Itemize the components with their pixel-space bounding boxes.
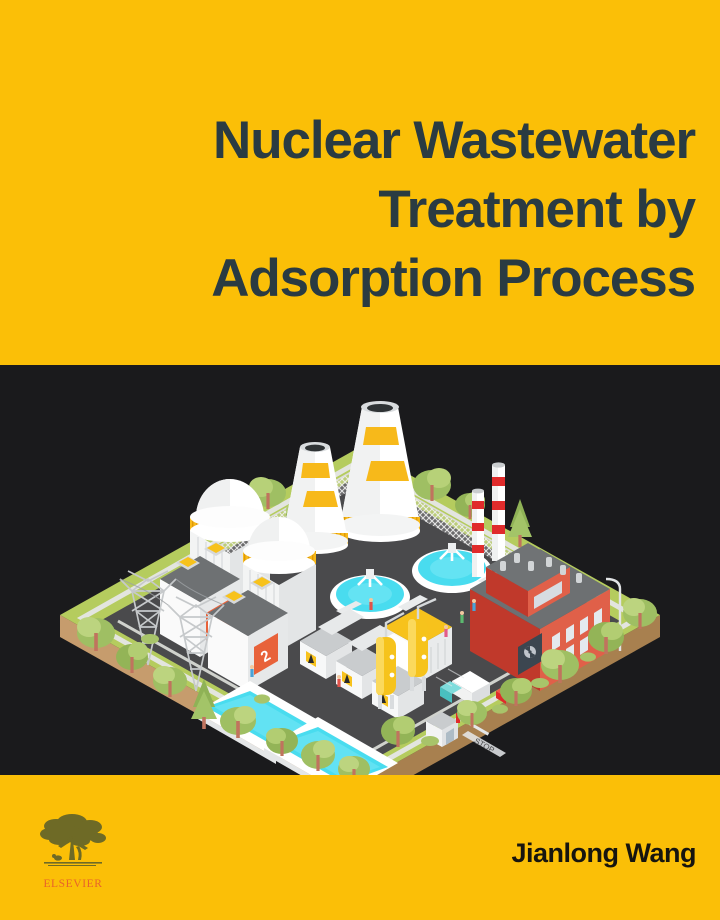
elsevier-tree-icon [36, 812, 110, 876]
exhaust-stack-tall [492, 462, 505, 561]
book-title: Nuclear Wastewater Treatment by Adsorpti… [30, 106, 695, 313]
elsevier-wordmark: ELSEVIER [36, 878, 110, 890]
cooling-tower-large [340, 401, 420, 542]
title-line-1: Nuclear Wastewater [30, 106, 695, 175]
book-cover: Nuclear Wastewater Treatment by Adsorpti… [0, 0, 720, 920]
cover-illustration: 1 2 [0, 365, 720, 775]
stop-text: STOP [473, 736, 496, 755]
elsevier-logo: ELSEVIER [36, 812, 110, 898]
title-line-2: Treatment by [30, 175, 695, 244]
title-line-3: Adsorption Process [30, 244, 695, 313]
author-name: Jianlong Wang [512, 838, 697, 869]
exhaust-stack-short [472, 489, 484, 577]
